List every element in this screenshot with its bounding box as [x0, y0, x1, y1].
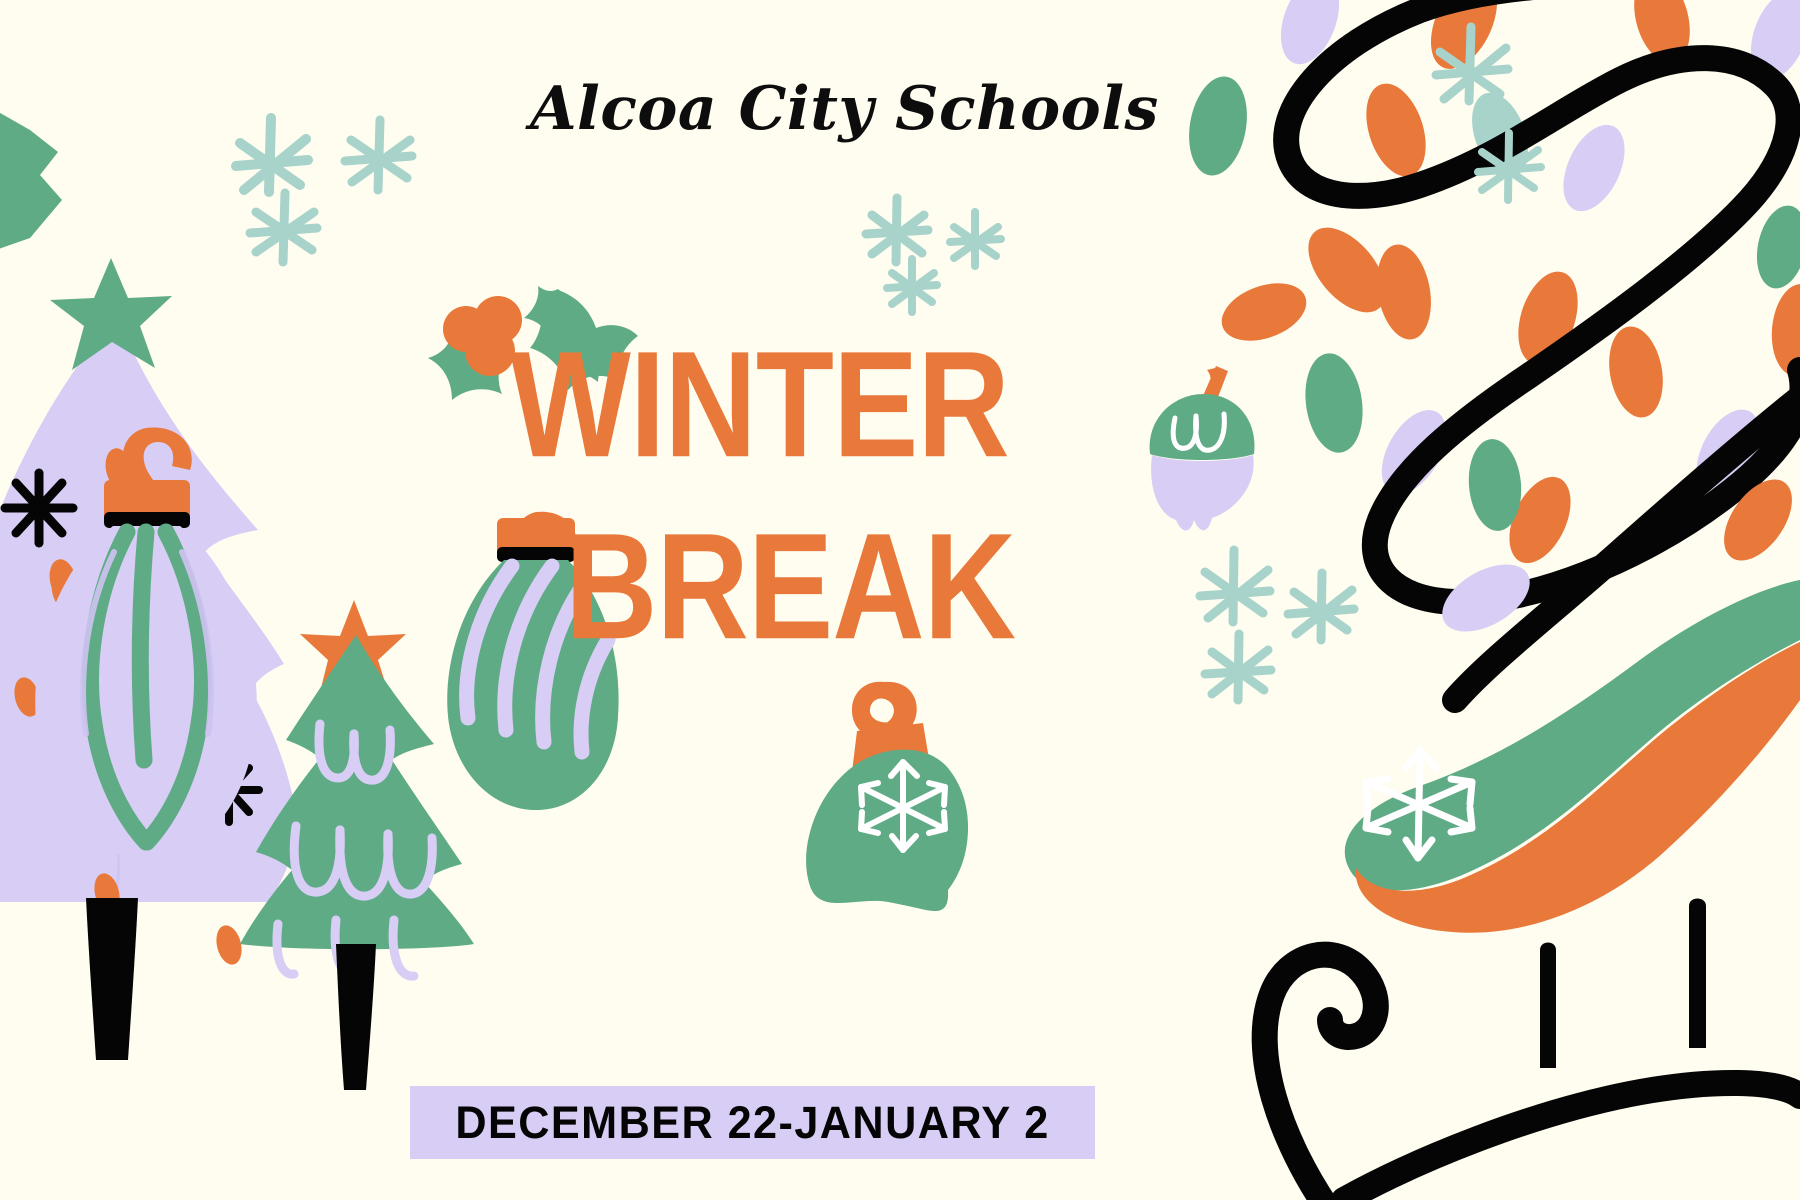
- school-name-heading: Alcoa City Schools: [530, 78, 1090, 141]
- holly-berry: [465, 326, 515, 376]
- black-sparkle-asterisk: [5, 473, 73, 543]
- headline-line-1: WINTER: [510, 330, 1009, 481]
- date-range-text: DECEMBER 22-JANUARY 2: [455, 1097, 1049, 1149]
- sleigh-leg: [1689, 899, 1706, 1049]
- headline-line-2: BREAK: [565, 512, 1015, 663]
- date-banner: DECEMBER 22-JANUARY 2: [410, 1086, 1095, 1159]
- winter-break-poster: Alcoa City Schools WINTER BREAK DECEMBER…: [0, 0, 1800, 1200]
- sleigh-leg: [1540, 943, 1556, 1069]
